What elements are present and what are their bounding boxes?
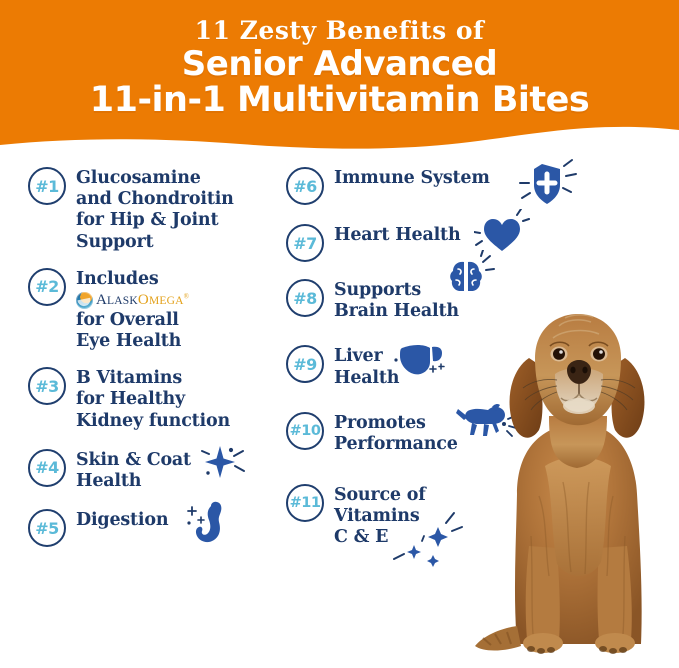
benefit-text-2: Includes ALASKOMEGA® for Overall Eye Hea…	[76, 267, 189, 353]
header-title-line-1: Senior Advanced	[182, 47, 497, 82]
benefit-line: Heart Health	[334, 225, 460, 246]
header-title-line-2: 11-in-1 Multivitamin Bites	[90, 83, 589, 119]
benefit-item-2: #2 Includes ALASKOMEGA® for Overall Eye …	[28, 267, 290, 353]
shield-plus-icon	[518, 158, 580, 216]
benefit-text-5: Digestion	[76, 508, 168, 531]
logo-part-1: A	[96, 292, 107, 308]
benefit-number-badge-6: #6	[286, 167, 324, 205]
alaskomega-logo: ALASKOMEGA®	[76, 292, 189, 309]
benefit-line: Performance	[334, 434, 458, 455]
benefit-number-badge-5: #5	[28, 509, 66, 547]
benefit-line: Kidney function	[76, 411, 230, 432]
benefit-line: and Chondroitin	[76, 189, 234, 210]
benefit-line: Skin & Coat	[76, 450, 191, 471]
benefit-line: Liver	[334, 346, 399, 367]
infographic-page: 11 Zesty Benefits of Senior Advanced 11-…	[0, 0, 679, 668]
benefit-item-5: #5 Digestion	[28, 508, 290, 547]
benefit-number-badge-9: #9	[286, 345, 324, 383]
benefit-text-7: Heart Health	[334, 223, 460, 246]
benefit-line: Glucosamine	[76, 168, 234, 189]
logo-part-4: MEGA	[149, 295, 184, 307]
benefit-line: Health	[76, 471, 191, 492]
alaskomega-wordmark: ALASKOMEGA®	[96, 293, 189, 308]
benefit-number-badge-2: #2	[28, 268, 66, 306]
logo-trademark: ®	[184, 292, 190, 300]
benefit-text-1: Glucosamine and Chondroitin for Hip & Jo…	[76, 166, 234, 253]
benefit-line: Health	[334, 368, 399, 389]
header-banner: 11 Zesty Benefits of Senior Advanced 11-…	[0, 0, 679, 166]
benefit-line: Source of	[334, 485, 426, 506]
stomach-icon	[180, 498, 236, 548]
sparkle-star-icon	[196, 442, 248, 484]
benefit-text-6: Immune System	[334, 166, 490, 189]
benefit-text-9: Liver Health	[334, 344, 399, 388]
benefit-item-4: #4 Skin & Coat Health	[28, 448, 290, 492]
sparkles-icon	[386, 511, 472, 569]
benefit-line: Includes	[76, 269, 189, 290]
benefit-line: for Hip & Joint	[76, 210, 234, 231]
benefit-line: Support	[76, 232, 234, 253]
logo-part-3: O	[138, 292, 149, 308]
liver-icon	[394, 338, 454, 388]
benefit-text-4: Skin & Coat Health	[76, 448, 191, 492]
alaskomega-wave-icon	[76, 292, 93, 309]
benefit-number-badge-8: #8	[286, 279, 324, 317]
benefit-text-10: Promotes Performance	[334, 411, 458, 455]
benefit-number-badge-3: #3	[28, 367, 66, 405]
benefit-line: B Vitamins	[76, 368, 230, 389]
benefit-number-badge-7: #7	[286, 224, 324, 262]
benefit-item-7: #7 Heart Health	[286, 223, 546, 262]
benefit-line: Eye Health	[76, 331, 189, 352]
benefit-number-badge-11: #11	[286, 484, 324, 522]
benefit-line: for Healthy	[76, 389, 230, 410]
logo-part-2: LASK	[107, 295, 138, 307]
benefit-line: for Overall	[76, 310, 189, 331]
benefit-number-badge-4: #4	[28, 449, 66, 487]
benefit-item-1: #1 Glucosamine and Chondroitin for Hip &…	[28, 166, 290, 253]
benefits-column-left: #1 Glucosamine and Chondroitin for Hip &…	[28, 166, 290, 559]
benefit-line: Digestion	[76, 510, 168, 531]
benefit-item-6: #6 Immune System	[286, 166, 546, 205]
benefit-line: Promotes	[334, 413, 458, 434]
header-kicker: 11 Zesty Benefits of	[195, 18, 485, 43]
benefit-number-badge-10: #10	[286, 412, 324, 450]
benefit-number-badge-1: #1	[28, 167, 66, 205]
senior-dog-photo	[473, 296, 679, 668]
benefit-line: Immune System	[334, 168, 490, 189]
benefit-text-3: B Vitamins for Healthy Kidney function	[76, 366, 230, 432]
benefit-item-3: #3 B Vitamins for Healthy Kidney functio…	[28, 366, 290, 432]
